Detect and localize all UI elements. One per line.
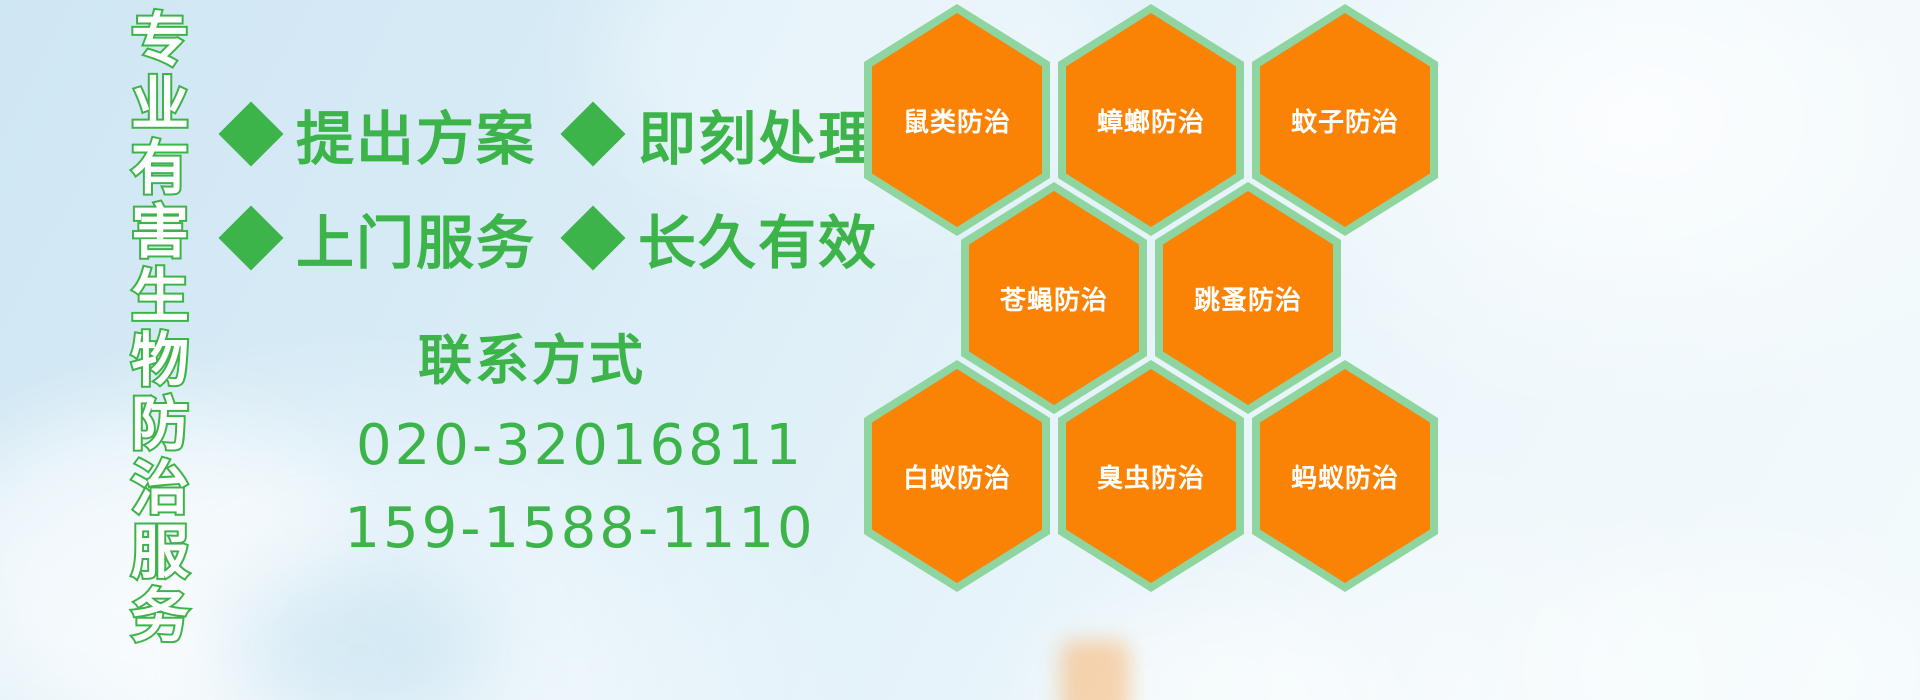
contact-phone-mobile[interactable]: 159-1588-1110 [300, 496, 860, 561]
service-hex-flea[interactable]: 跳蚤防治 [1155, 182, 1341, 414]
service-hex-label: 蚂蚁防治 [1291, 458, 1399, 495]
service-hex-label: 蟑螂防治 [1097, 102, 1205, 139]
service-hex-termite[interactable]: 白蚁防治 [864, 360, 1050, 592]
feature-label: 即刻处理 [638, 92, 878, 176]
service-hex-fill: 臭虫防治 [1066, 369, 1236, 583]
vertical-headline-char: 生 [131, 264, 189, 328]
service-hex-label: 苍蝇防治 [1000, 280, 1108, 317]
vertical-headline-char: 务 [131, 584, 189, 648]
feature-item: 即刻处理 [570, 92, 878, 176]
vertical-headline-char: 防 [131, 392, 189, 456]
feature-item: 上门服务 [228, 196, 536, 280]
diamond-icon [218, 101, 283, 166]
service-hex-fill: 蚊子防治 [1260, 13, 1430, 227]
contact-phone-landline[interactable]: 020-32016811 [300, 413, 860, 478]
vertical-headline-char: 物 [131, 328, 189, 392]
contact-block: 联系方式 020-32016811 159-1588-1110 [300, 316, 860, 561]
vertical-headline-char: 专 [131, 8, 189, 72]
vertical-headline-char: 服 [131, 520, 189, 584]
vertical-headline: 专 业 有 害 生 物 防 治 服 务 [108, 8, 212, 678]
vertical-headline-char: 治 [131, 456, 189, 520]
service-hex-label: 臭虫防治 [1097, 458, 1205, 495]
feature-item: 提出方案 [228, 92, 536, 176]
feature-list: 提出方案 即刻处理 上门服务 长久有效 [228, 82, 868, 290]
service-hex-fill: 跳蚤防治 [1163, 191, 1333, 405]
feature-label: 长久有效 [638, 196, 878, 280]
service-hex-fill: 白蚁防治 [872, 369, 1042, 583]
service-hex-label: 蚊子防治 [1291, 102, 1399, 139]
service-hex-fill: 苍蝇防治 [969, 191, 1139, 405]
diamond-icon [560, 101, 625, 166]
background-blob [1520, 540, 1920, 700]
contact-title: 联系方式 [300, 316, 860, 395]
service-honeycomb: 鼠类防治 蟑螂防治 蚊子防治 苍蝇防治 跳蚤防治 白蚁防 [856, 0, 1476, 700]
vertical-headline-char: 害 [131, 200, 189, 264]
service-hex-bedbug[interactable]: 臭虫防治 [1058, 360, 1244, 592]
vertical-headline-char: 有 [131, 136, 189, 200]
background-blob [230, 560, 490, 700]
diamond-icon [218, 205, 283, 270]
feature-label: 提出方案 [296, 92, 536, 176]
pest-control-banner: 专 业 有 害 生 物 防 治 服 务 提出方案 即刻处理 上门服务 [0, 0, 1920, 700]
feature-item: 长久有效 [570, 196, 878, 280]
feature-row: 提出方案 即刻处理 [228, 82, 868, 186]
service-hex-fill: 蚂蚁防治 [1260, 369, 1430, 583]
service-hex-ant[interactable]: 蚂蚁防治 [1252, 360, 1438, 592]
service-hex-label: 鼠类防治 [903, 102, 1011, 139]
diamond-icon [560, 205, 625, 270]
service-hex-fly[interactable]: 苍蝇防治 [961, 182, 1147, 414]
service-hex-fill: 鼠类防治 [872, 13, 1042, 227]
service-hex-rodent[interactable]: 鼠类防治 [864, 4, 1050, 236]
service-hex-mosquito[interactable]: 蚊子防治 [1252, 4, 1438, 236]
service-hex-cockroach[interactable]: 蟑螂防治 [1058, 4, 1244, 236]
service-hex-label: 跳蚤防治 [1194, 280, 1302, 317]
feature-label: 上门服务 [296, 196, 536, 280]
service-hex-label: 白蚁防治 [903, 458, 1011, 495]
vertical-headline-char: 业 [131, 72, 189, 136]
feature-row: 上门服务 长久有效 [228, 186, 868, 290]
service-hex-fill: 蟑螂防治 [1066, 13, 1236, 227]
